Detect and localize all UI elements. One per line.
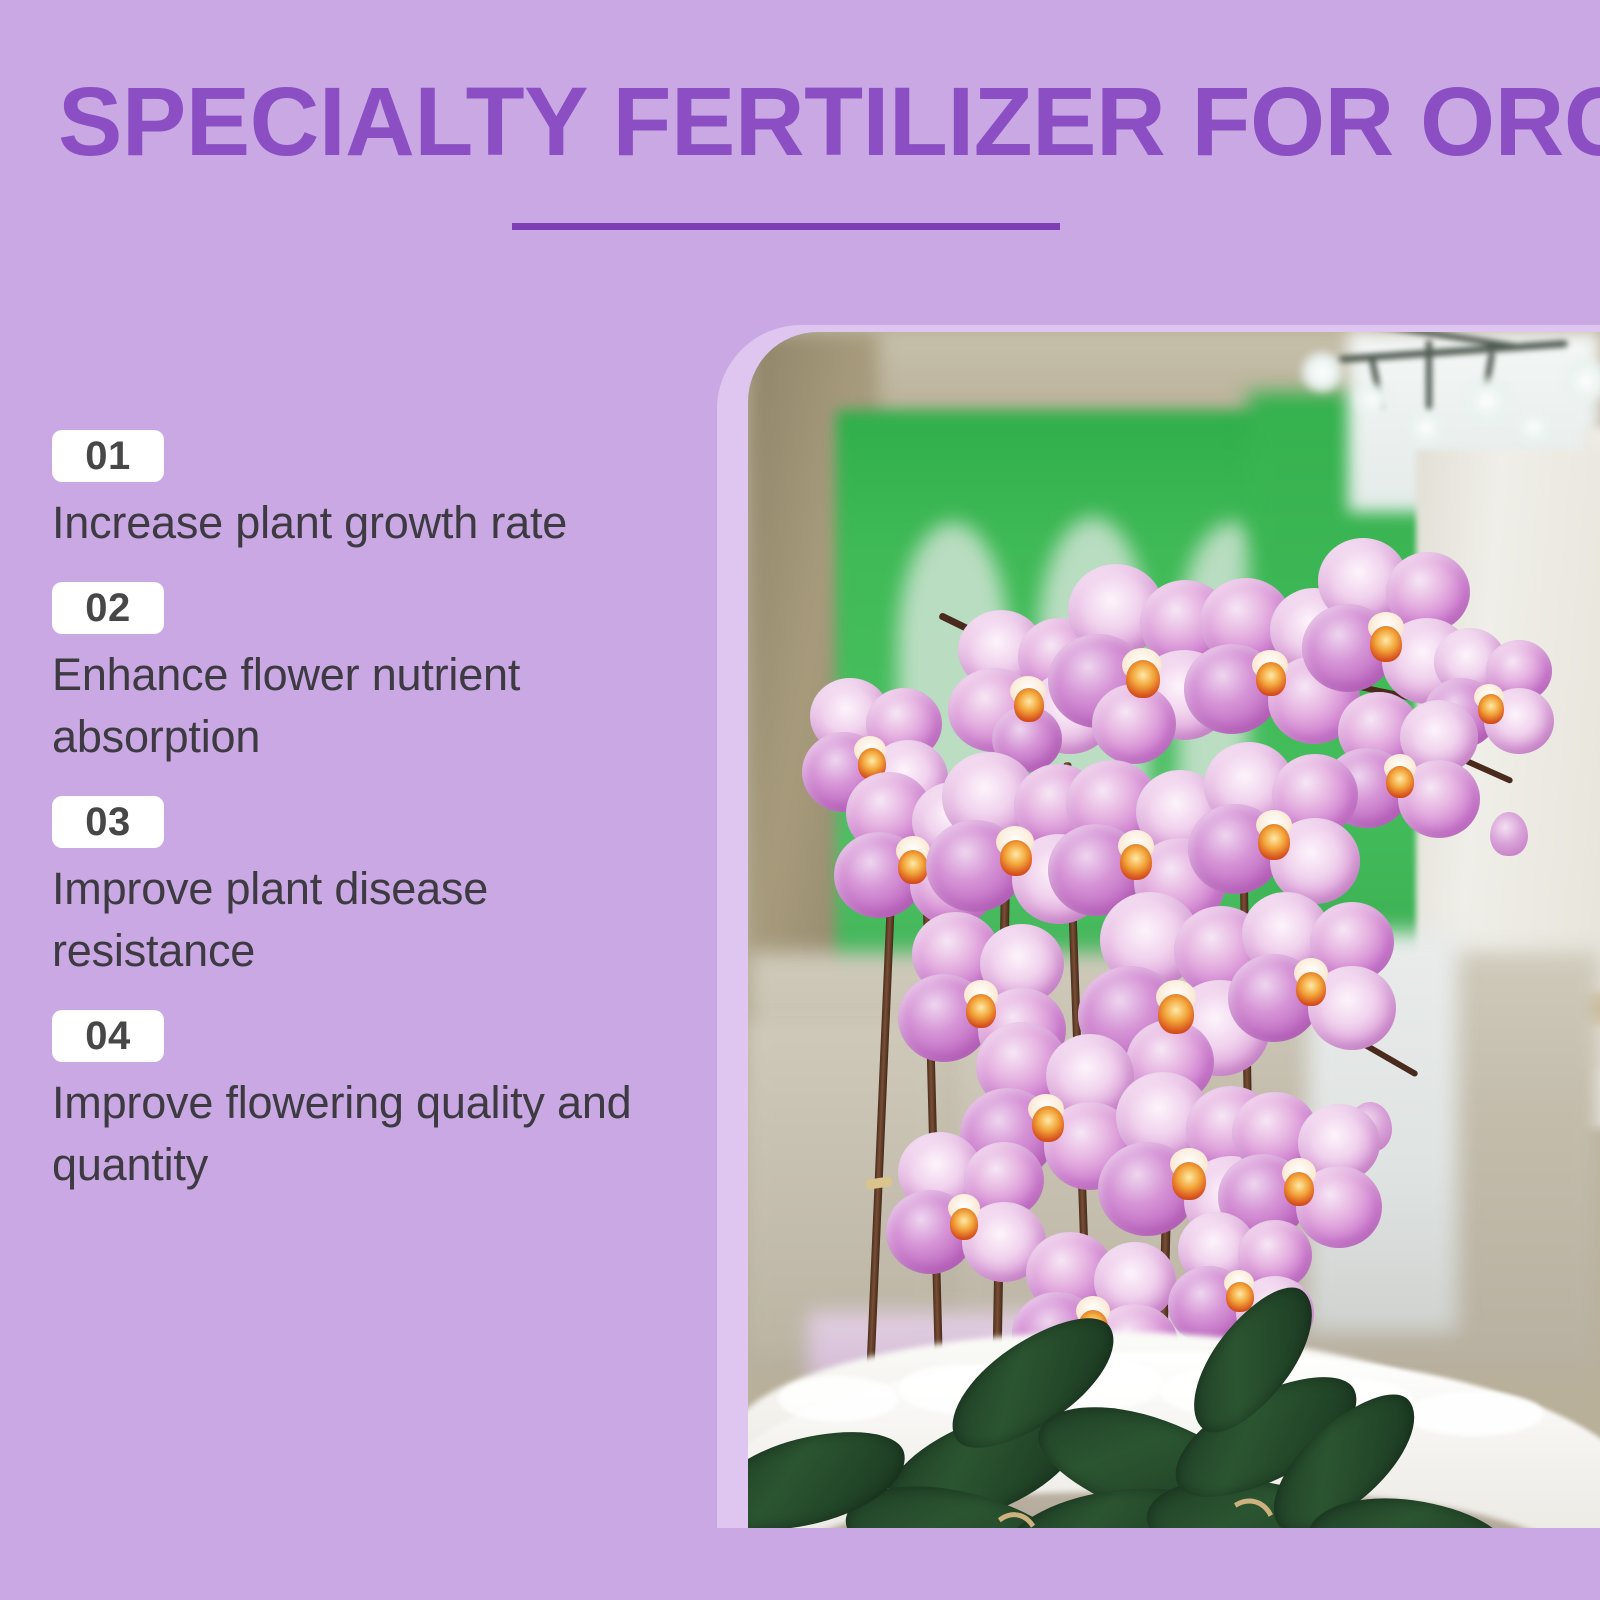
poster-canvas: SPECIALTY FERTILIZER FOR ORCHIDS 01 Incr… xyxy=(0,0,1600,1600)
title-underline-rule xyxy=(512,223,1060,230)
list-item: 01 Increase plant growth rate xyxy=(52,430,672,554)
orchid-bud xyxy=(1490,812,1528,856)
orchid-photo xyxy=(748,332,1600,1528)
feature-number-badge: 01 xyxy=(52,430,164,482)
orchid-photo-scene xyxy=(748,332,1600,1528)
feature-number-badge: 02 xyxy=(52,582,164,634)
feature-number-badge: 04 xyxy=(52,1010,164,1062)
list-item: 02 Enhance flower nutrient absorption xyxy=(52,582,672,768)
list-item: 03 Improve plant disease resistance xyxy=(52,796,672,982)
feature-number-badge: 03 xyxy=(52,796,164,848)
feature-text: Increase plant growth rate xyxy=(52,492,652,554)
feature-text: Improve plant disease resistance xyxy=(52,858,652,982)
page-title: SPECIALTY FERTILIZER FOR ORCHIDS xyxy=(58,72,1541,172)
feature-text: Improve flowering quality and quantity xyxy=(52,1072,652,1196)
feature-text: Enhance flower nutrient absorption xyxy=(52,644,652,768)
list-item: 04 Improve flowering quality and quantit… xyxy=(52,1010,672,1196)
feature-list: 01 Increase plant growth rate 02 Enhance… xyxy=(52,430,672,1196)
